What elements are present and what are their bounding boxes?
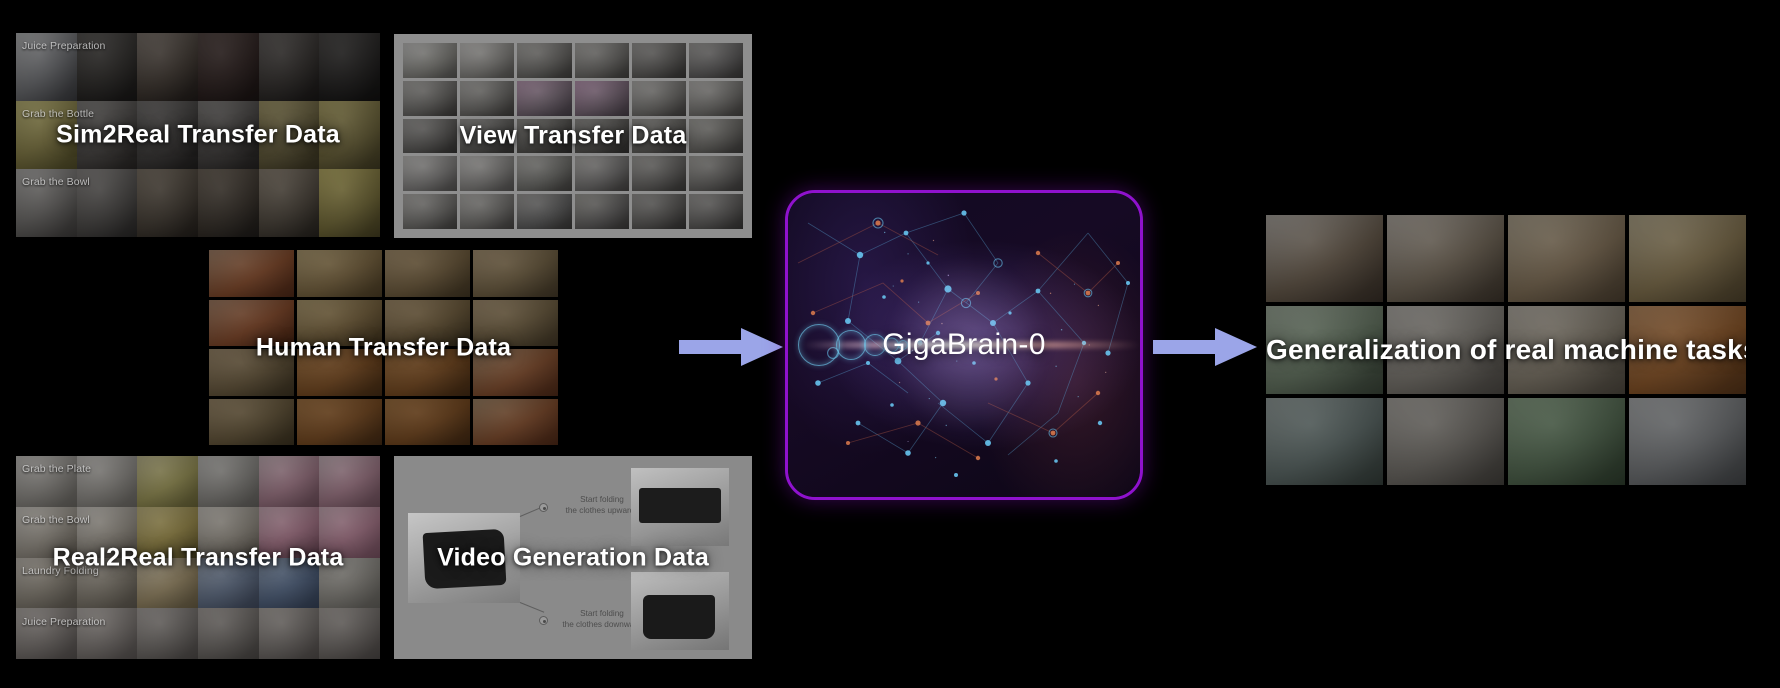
- thumbnail: [460, 43, 514, 78]
- thumbnail: [16, 608, 77, 659]
- video-gen-branch-line-down: [520, 602, 544, 613]
- thumbnail: [632, 81, 686, 116]
- thumbnail: [1266, 398, 1383, 485]
- thumbnail: [1629, 215, 1746, 302]
- thumbnail: [77, 558, 138, 609]
- thumbnail: [209, 250, 294, 297]
- thumbnail: [319, 456, 380, 507]
- thumbnail: [259, 101, 320, 169]
- thumbnail: [575, 43, 629, 78]
- arrow-inputs-to-model: [679, 325, 783, 369]
- thumbnail: [1387, 398, 1504, 485]
- thumbnail: [198, 101, 259, 169]
- thumbnail: [1387, 215, 1504, 302]
- video-gen-result-frame-down: [631, 572, 729, 650]
- thumbnail: [137, 169, 198, 237]
- thumbnail: [1508, 306, 1625, 393]
- arrow-model-to-outputs: [1153, 325, 1257, 369]
- thumbnail: [689, 43, 743, 78]
- thumbnail: [297, 399, 382, 446]
- thumbnail: [259, 169, 320, 237]
- thumbnail: [77, 456, 138, 507]
- thumbnail: [319, 33, 380, 101]
- thumbnail: [575, 156, 629, 191]
- thumbnail: [259, 507, 320, 558]
- thumbnail: [460, 194, 514, 229]
- thumbnail: [259, 33, 320, 101]
- thumbnail: [16, 33, 77, 101]
- thumbnail: [319, 558, 380, 609]
- thumbnail: [77, 169, 138, 237]
- model-node-gigabrain-0[interactable]: GigaBrain-0: [785, 190, 1143, 500]
- thumbnail: [689, 194, 743, 229]
- thumbnail: [198, 456, 259, 507]
- thumbnail: [403, 119, 457, 154]
- panel-real2real-transfer-data[interactable]: Grab the Plate Grab the Bowl Laundry Fol…: [16, 456, 380, 659]
- thumbnail: [198, 169, 259, 237]
- thumbnail: [198, 558, 259, 609]
- thumbnail: [517, 194, 571, 229]
- thumbnail: [259, 608, 320, 659]
- thumbnail: [517, 81, 571, 116]
- thumbnail: [77, 33, 138, 101]
- thumbnail: [319, 608, 380, 659]
- panel-generalization-of-real-machine-tasks[interactable]: Generalization of real machine tasks: [1266, 215, 1746, 485]
- thumbnail: [297, 300, 382, 347]
- thumbnail: [259, 456, 320, 507]
- thumbnail: [16, 101, 77, 169]
- thumbnail: [137, 456, 198, 507]
- thumbnail: [319, 507, 380, 558]
- thumbnail: [460, 81, 514, 116]
- thumbnail: [137, 33, 198, 101]
- thumbnail: [575, 81, 629, 116]
- panel-view-transfer-data[interactable]: View Transfer Data: [394, 34, 752, 238]
- thumbnail: [209, 399, 294, 446]
- thumbnail: [77, 101, 138, 169]
- thumbnail: [385, 250, 470, 297]
- thumbnail: [473, 399, 558, 446]
- thumbnail: [16, 507, 77, 558]
- thumbnail: [16, 558, 77, 609]
- thumbnail: [319, 169, 380, 237]
- thumbnail: [137, 608, 198, 659]
- thumbnail: [1266, 306, 1383, 393]
- thumbnail: [385, 399, 470, 446]
- thumbnail: [16, 169, 77, 237]
- view-transfer-thumbnail-grid: [403, 43, 743, 229]
- thumbnail: [1508, 215, 1625, 302]
- thumbnail: [198, 507, 259, 558]
- thumbnail: [517, 156, 571, 191]
- thumbnail: [575, 194, 629, 229]
- thumbnail: [575, 119, 629, 154]
- sim2real-thumbnail-grid: [16, 33, 380, 237]
- thumbnail: [385, 349, 470, 396]
- video-gen-source-frame: [408, 513, 520, 603]
- real2real-thumbnail-grid: [16, 456, 380, 659]
- thumbnail: [16, 456, 77, 507]
- thumbnail: [137, 558, 198, 609]
- thumbnail: [473, 300, 558, 347]
- thumbnail: [198, 608, 259, 659]
- thumbnail: [473, 250, 558, 297]
- thumbnail: [403, 156, 457, 191]
- thumbnail: [517, 119, 571, 154]
- thumbnail: [77, 507, 138, 558]
- thumbnail: [1508, 398, 1625, 485]
- thumbnail: [403, 194, 457, 229]
- thumbnail: [632, 43, 686, 78]
- thumbnail: [403, 81, 457, 116]
- thumbnail: [198, 33, 259, 101]
- thumbnail: [460, 156, 514, 191]
- thumbnail: [137, 101, 198, 169]
- thumbnail: [632, 119, 686, 154]
- thumbnail: [1266, 215, 1383, 302]
- thumbnail: [319, 101, 380, 169]
- video-gen-branch-node-down: [539, 616, 548, 625]
- model-node-title: GigaBrain-0: [788, 328, 1140, 362]
- thumbnail: [689, 156, 743, 191]
- panel-sim2real-transfer-data[interactable]: Juice Preparation Grab the Bottle Grab t…: [16, 33, 380, 237]
- thumbnail: [1629, 306, 1746, 393]
- panel-video-generation-data[interactable]: Start folding the clothes upwards Start …: [394, 456, 752, 659]
- thumbnail: [259, 558, 320, 609]
- thumbnail: [385, 300, 470, 347]
- pipeline-diagram: Juice Preparation Grab the Bottle Grab t…: [0, 0, 1780, 688]
- thumbnail: [209, 300, 294, 347]
- thumbnail: [403, 43, 457, 78]
- generalization-thumbnail-grid: [1266, 215, 1746, 485]
- panel-human-transfer-data[interactable]: Human Transfer Data: [209, 250, 558, 445]
- thumbnail: [1629, 398, 1746, 485]
- thumbnail: [1387, 306, 1504, 393]
- video-gen-branch-node-up: [539, 503, 548, 512]
- thumbnail: [632, 194, 686, 229]
- thumbnail: [297, 349, 382, 396]
- thumbnail: [209, 349, 294, 396]
- human-transfer-thumbnail-grid: [209, 250, 558, 445]
- thumbnail: [137, 507, 198, 558]
- thumbnail: [689, 81, 743, 116]
- thumbnail: [517, 43, 571, 78]
- thumbnail: [297, 250, 382, 297]
- thumbnail: [473, 349, 558, 396]
- thumbnail: [460, 119, 514, 154]
- thumbnail: [77, 608, 138, 659]
- thumbnail: [632, 156, 686, 191]
- video-gen-result-frame-up: [631, 468, 729, 546]
- thumbnail: [689, 119, 743, 154]
